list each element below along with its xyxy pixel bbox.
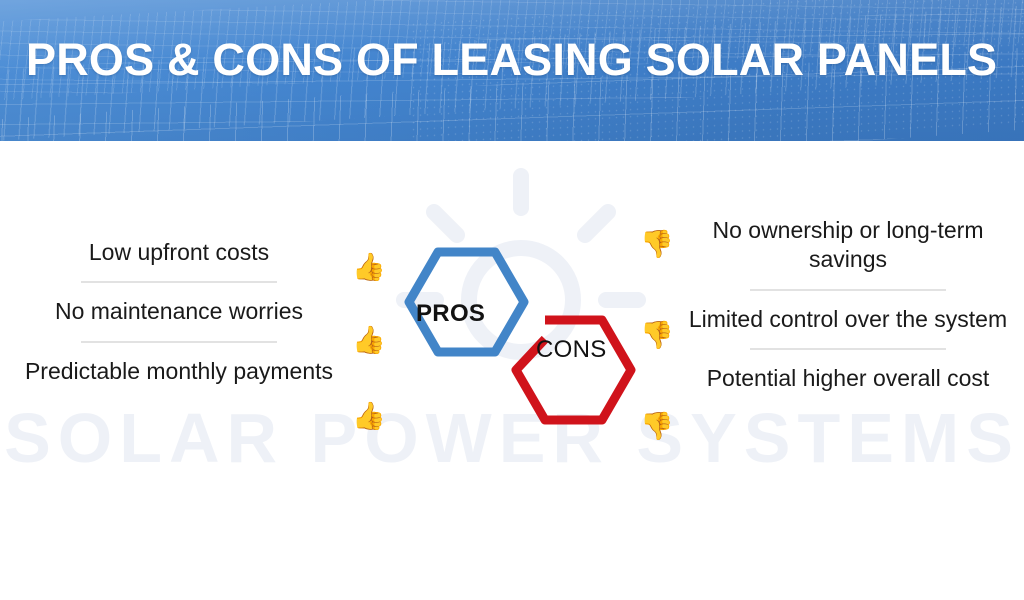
list-divider	[750, 289, 946, 291]
cons-hexagon-label: CONS	[536, 336, 607, 364]
cons-hexagon	[516, 320, 631, 420]
pros-item-label: Predictable monthly payments	[14, 357, 344, 386]
list-item: Predictable monthly payments	[14, 357, 344, 386]
page-title: PROS & CONS OF LEASING SOLAR PANELS	[26, 36, 1016, 83]
pros-item-label: Low upfront costs	[14, 238, 344, 267]
list-item: Limited control over the system	[680, 305, 1016, 334]
cons-list: No ownership or long-term savings Limite…	[680, 216, 1016, 394]
list-item: Low upfront costs	[14, 238, 344, 267]
cons-item-label: No ownership or long-term savings	[680, 216, 1016, 275]
list-divider	[81, 281, 277, 283]
pros-item-label: No maintenance worries	[14, 297, 344, 326]
pros-hexagon-label: PROS	[416, 300, 485, 328]
header-banner: PROS & CONS OF LEASING SOLAR PANELS	[0, 0, 1024, 141]
cons-item-label: Potential higher overall cost	[680, 364, 1016, 393]
list-item: No maintenance worries	[14, 297, 344, 326]
list-divider	[750, 348, 946, 350]
hexagon-pair-graphic	[380, 240, 650, 430]
pros-list: Low upfront costs No maintenance worries…	[14, 238, 344, 386]
infographic-page: PROS & CONS OF LEASING SOLAR PANELS SOLA…	[0, 0, 1024, 600]
list-item: No ownership or long-term savings	[680, 216, 1016, 275]
list-divider	[81, 341, 277, 343]
cons-item-label: Limited control over the system	[680, 305, 1016, 334]
list-item: Potential higher overall cost	[680, 364, 1016, 393]
